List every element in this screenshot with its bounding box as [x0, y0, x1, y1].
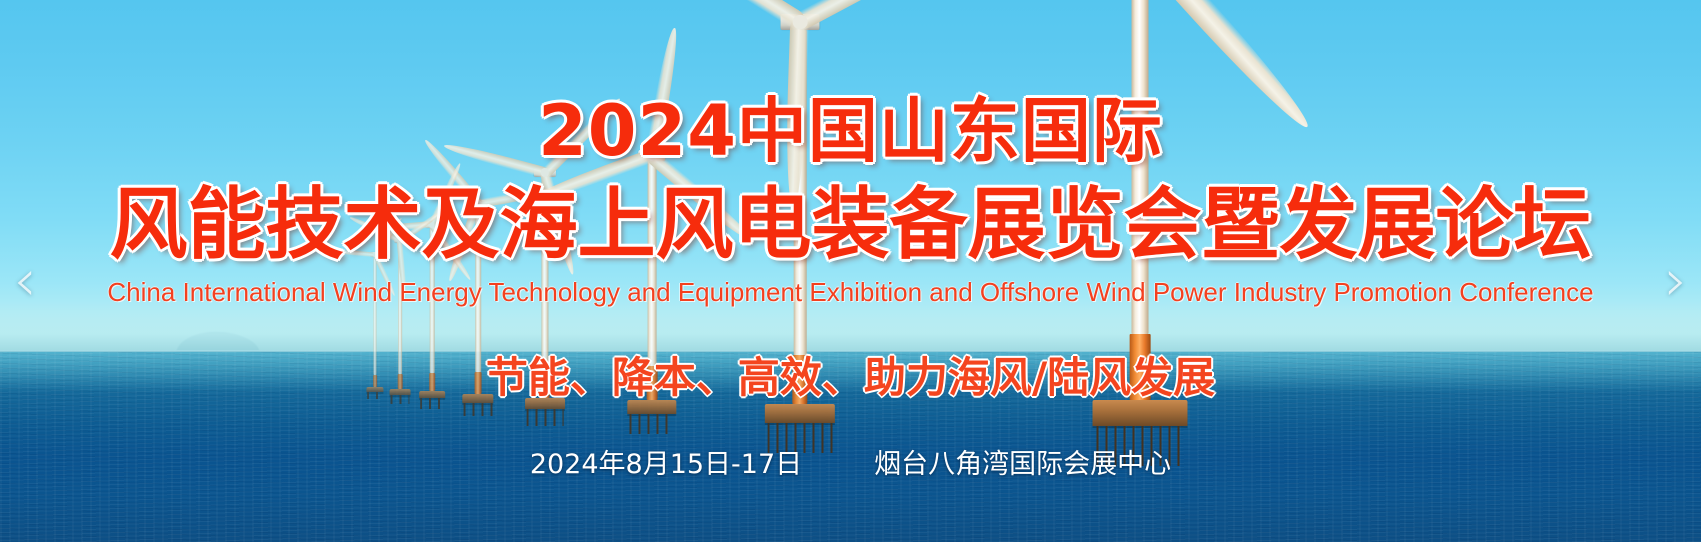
banner-footer-info: 2024年8月15日-17日 烟台八角湾国际会展中心 [0, 447, 1701, 483]
carousel-next-arrow-icon[interactable]: › [1653, 252, 1699, 310]
banner-title-line1: 2024中国山东国际 [0, 92, 1701, 170]
event-banner: 2024中国山东国际 风能技术及海上风电装备展览会暨发展论坛 China Int… [0, 0, 1701, 542]
banner-subtitle-english: China International Wind Energy Technolo… [0, 276, 1701, 308]
banner-text-block: 2024中国山东国际 风能技术及海上风电装备展览会暨发展论坛 China Int… [0, 0, 1701, 542]
carousel-prev-arrow-icon[interactable]: ‹ [2, 252, 48, 310]
banner-title-line2: 风能技术及海上风电装备展览会暨发展论坛 [0, 182, 1701, 268]
event-date: 2024年8月15日-17日 [530, 447, 802, 483]
banner-slogan: 节能、降本、高效、助力海风/陆风发展 [0, 353, 1701, 403]
event-venue: 烟台八角湾国际会展中心 [874, 447, 1171, 483]
